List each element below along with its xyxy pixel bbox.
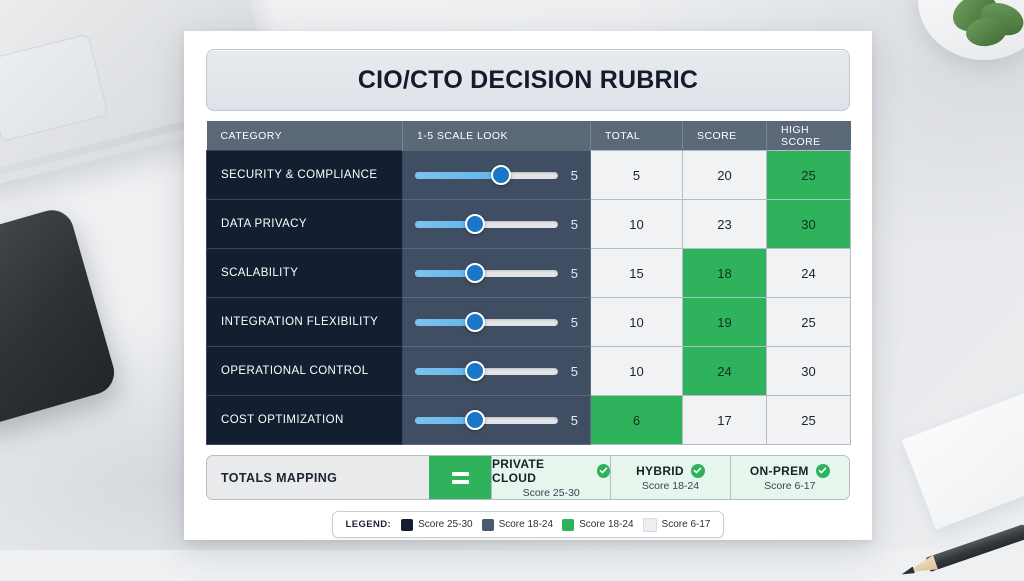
legend-item: Score 18-24 <box>562 519 633 531</box>
column-header-high-score: HIGH SCORE <box>767 121 851 151</box>
cell-category: DATA PRIVACY <box>207 200 403 249</box>
table-row: SCALABILITY5151824 <box>207 249 851 298</box>
cell-high-score: 25 <box>767 298 851 347</box>
cell-total: 6 <box>591 396 683 445</box>
slider-value: 5 <box>568 168 578 183</box>
legend-swatch <box>482 519 494 531</box>
legend-area: LEGEND: Score 25-30Score 18-24Score 18-2… <box>206 511 850 538</box>
title-banner: CIO/CTO DECISION RUBRIC <box>206 49 850 111</box>
slider-track[interactable] <box>415 319 558 326</box>
legend-label: LEGEND: <box>346 519 392 530</box>
column-header-total: TOTAL <box>591 121 683 151</box>
scale-slider[interactable]: 5 <box>415 217 578 232</box>
cell-high-score: 25 <box>767 151 851 200</box>
cell-high-score: 30 <box>767 200 851 249</box>
mapping-card-range: Score 6-17 <box>764 480 815 492</box>
cell-category: INTEGRATION FLEXIBILITY <box>207 298 403 347</box>
pencil-body <box>926 524 1024 572</box>
cell-category: SECURITY & COMPLIANCE <box>207 151 403 200</box>
cell-category: OPERATIONAL CONTROL <box>207 347 403 396</box>
legend-item-text: Score 25-30 <box>418 519 472 530</box>
mapping-card-range: Score 18-24 <box>642 480 699 492</box>
laptop-trackpad <box>0 34 109 142</box>
equals-badge <box>429 456 491 499</box>
cell-total: 5 <box>591 151 683 200</box>
slider-track[interactable] <box>415 221 558 228</box>
check-circle-icon <box>816 464 830 478</box>
pencil-tip <box>900 566 915 577</box>
slider-track[interactable] <box>415 417 558 424</box>
rubric-content: CIO/CTO DECISION RUBRIC CATEGORY 1-5 SCA… <box>206 49 850 538</box>
cell-scale: 5 <box>403 249 591 298</box>
table-row: OPERATIONAL CONTROL5102430 <box>207 347 851 396</box>
slider-thumb[interactable] <box>465 361 485 381</box>
legend-item: Score 6-17 <box>643 518 711 532</box>
cell-scale: 5 <box>403 396 591 445</box>
cell-score: 19 <box>683 298 767 347</box>
pencil-object <box>899 524 1024 581</box>
rubric-table: CATEGORY 1-5 SCALE LOOK TOTAL SCORE HIGH… <box>206 121 851 445</box>
cell-total: 10 <box>591 200 683 249</box>
totals-mapping-label: TOTALS MAPPING <box>207 456 429 499</box>
slider-thumb[interactable] <box>465 263 485 283</box>
cell-scale: 5 <box>403 347 591 396</box>
slider-track[interactable] <box>415 172 558 179</box>
slider-thumb[interactable] <box>465 312 485 332</box>
cell-scale: 5 <box>403 298 591 347</box>
cell-scale: 5 <box>403 151 591 200</box>
cell-high-score: 24 <box>767 249 851 298</box>
check-circle-icon <box>597 464 611 478</box>
legend-swatch <box>643 518 657 532</box>
legend-item-text: Score 6-17 <box>662 519 711 530</box>
slider-thumb[interactable] <box>465 214 485 234</box>
table-row: COST OPTIMIZATION561725 <box>207 396 851 445</box>
cell-scale: 5 <box>403 200 591 249</box>
cell-score: 24 <box>683 347 767 396</box>
mapping-card[interactable]: PRIVATE CLOUDScore 25-30 <box>491 456 610 499</box>
cell-total: 10 <box>591 347 683 396</box>
slider-fill <box>415 172 501 179</box>
legend-item: Score 18-24 <box>482 519 553 531</box>
totals-mapping-bar: TOTALS MAPPING PRIVATE CLOUDScore 25-30H… <box>206 455 850 500</box>
cell-total: 10 <box>591 298 683 347</box>
scale-slider[interactable]: 5 <box>415 315 578 330</box>
column-header-category: CATEGORY <box>207 121 403 151</box>
table-row: DATA PRIVACY5102330 <box>207 200 851 249</box>
cell-category: COST OPTIMIZATION <box>207 396 403 445</box>
cell-score: 23 <box>683 200 767 249</box>
mapping-card-name: ON-PREM <box>750 464 809 478</box>
slider-thumb[interactable] <box>465 410 485 430</box>
paper-scrap-object <box>902 386 1024 529</box>
column-header-scale: 1-5 SCALE LOOK <box>403 121 591 151</box>
check-circle-icon <box>691 464 705 478</box>
slider-track[interactable] <box>415 368 558 375</box>
pencil-wood <box>909 555 938 578</box>
mapping-card-range: Score 25-30 <box>523 487 580 499</box>
page-title: CIO/CTO DECISION RUBRIC <box>358 66 698 95</box>
scale-slider[interactable]: 5 <box>415 413 578 428</box>
table-header-row: CATEGORY 1-5 SCALE LOOK TOTAL SCORE HIGH… <box>207 121 851 151</box>
legend-item: Score 25-30 <box>401 519 472 531</box>
plant-pot-object <box>918 0 1024 60</box>
legend-swatch <box>562 519 574 531</box>
scale-slider[interactable]: 5 <box>415 364 578 379</box>
slider-thumb[interactable] <box>491 165 511 185</box>
slider-value: 5 <box>568 364 578 379</box>
table-row: INTEGRATION FLEXIBILITY5101925 <box>207 298 851 347</box>
cell-high-score: 25 <box>767 396 851 445</box>
mapping-card-name: PRIVATE CLOUD <box>492 457 590 485</box>
mapping-card[interactable]: ON-PREMScore 6-17 <box>730 456 849 499</box>
cell-score: 20 <box>683 151 767 200</box>
table-row: SECURITY & COMPLIANCE552025 <box>207 151 851 200</box>
cell-score: 18 <box>683 249 767 298</box>
equals-icon <box>452 472 469 484</box>
cell-score: 17 <box>683 396 767 445</box>
mapping-card-name: HYBRID <box>636 464 684 478</box>
scale-slider[interactable]: 5 <box>415 266 578 281</box>
slider-value: 5 <box>568 217 578 232</box>
column-header-score: SCORE <box>683 121 767 151</box>
legend-item-text: Score 18-24 <box>499 519 553 530</box>
slider-value: 5 <box>568 315 578 330</box>
legend-item-text: Score 18-24 <box>579 519 633 530</box>
legend-swatch <box>401 519 413 531</box>
phone-object <box>0 205 119 429</box>
cell-total: 15 <box>591 249 683 298</box>
mapping-card[interactable]: HYBRIDScore 18-24 <box>610 456 729 499</box>
cell-category: SCALABILITY <box>207 249 403 298</box>
scale-slider[interactable]: 5 <box>415 168 578 183</box>
legend: LEGEND: Score 25-30Score 18-24Score 18-2… <box>332 511 725 538</box>
cell-high-score: 30 <box>767 347 851 396</box>
slider-track[interactable] <box>415 270 558 277</box>
slider-value: 5 <box>568 266 578 281</box>
slider-value: 5 <box>568 413 578 428</box>
